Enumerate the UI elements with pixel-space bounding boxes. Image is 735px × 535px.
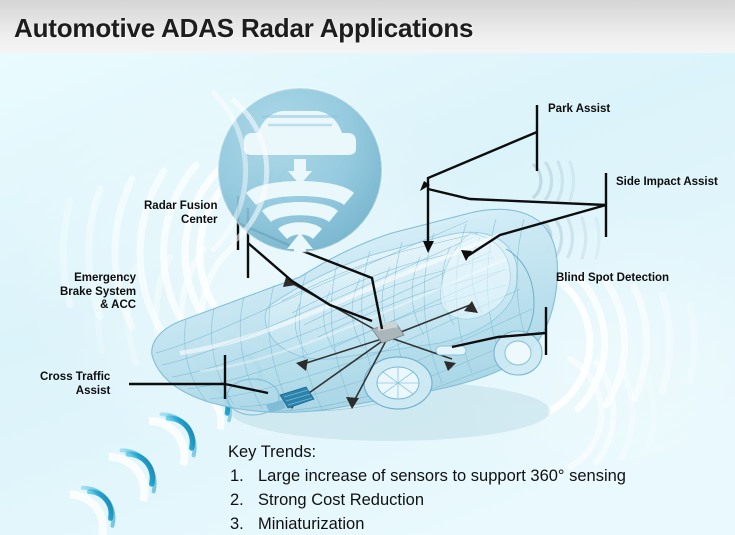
list-item: 3. Miniaturization [230, 512, 626, 535]
callout-line: Brake System [60, 286, 136, 300]
key-trends-heading: Key Trends: [228, 440, 626, 464]
callout-line: Radar Fusion [144, 200, 217, 214]
callout-line: & ACC [60, 299, 136, 313]
list-item: 1. Large increase of sensors to support … [230, 464, 626, 488]
list-item-number: 1. [230, 464, 248, 488]
slide-header-bar: Automotive ADAS Radar Applications [0, 0, 735, 53]
key-trends-list: 1. Large increase of sensors to support … [228, 464, 626, 535]
callout-cross-traffic-assist[interactable]: Cross Traffic Assist [40, 371, 110, 398]
callout-line: Cross Traffic [40, 371, 110, 385]
page-title: Automotive ADAS Radar Applications [14, 13, 473, 44]
callout-line: Blind Spot Detection [556, 272, 669, 286]
list-item-text: Strong Cost Reduction [258, 488, 424, 512]
callout-line: Center [144, 214, 217, 228]
callout-side-impact-assist[interactable]: Side Impact Assist [616, 176, 718, 190]
side-sensor-module [436, 346, 466, 355]
list-item-number: 3. [230, 512, 248, 535]
callout-park-assist[interactable]: Park Assist [548, 103, 610, 117]
key-trends-block: Key Trends: 1. Large increase of sensors… [228, 440, 626, 535]
list-item: 2. Strong Cost Reduction [230, 488, 626, 512]
callout-emergency-brake-system[interactable]: Emergency Brake System & ACC [60, 272, 136, 313]
list-item-text: Miniaturization [258, 512, 364, 535]
list-item-text: Large increase of sensors to support 360… [258, 464, 626, 488]
slide-canvas: Automotive ADAS Radar Applications Radar… [0, 0, 735, 535]
callout-line: Park Assist [548, 103, 610, 117]
callout-radar-fusion-center[interactable]: Radar Fusion Center [144, 200, 217, 227]
list-item-number: 2. [230, 488, 248, 512]
callout-blind-spot-detection[interactable]: Blind Spot Detection [556, 272, 669, 286]
callout-line: Side Impact Assist [616, 176, 718, 190]
callout-line: Assist [40, 385, 110, 399]
callout-line: Emergency [60, 272, 136, 286]
